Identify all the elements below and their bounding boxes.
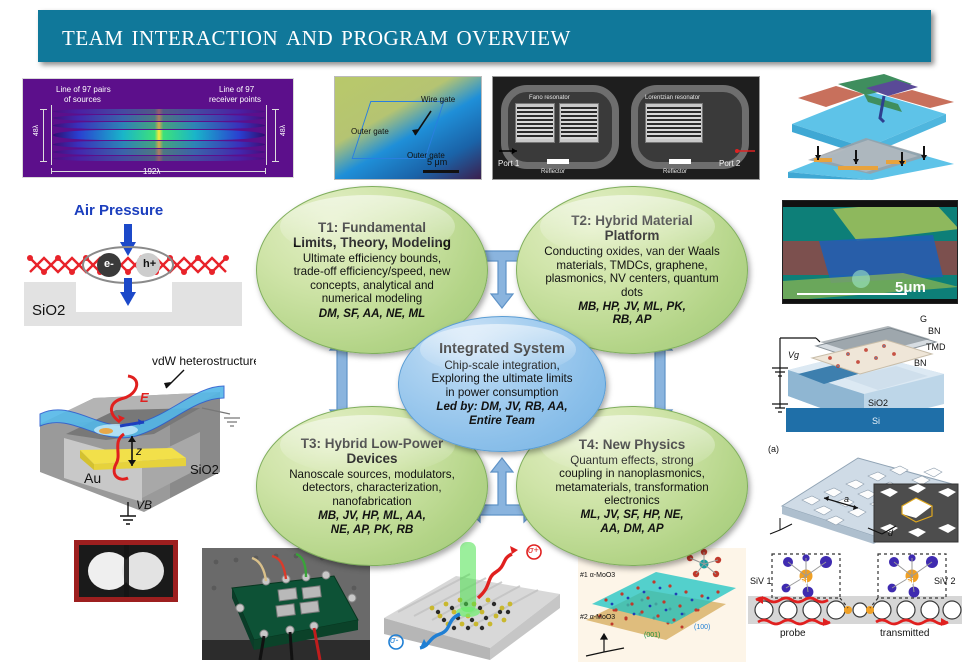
figure-metamaterial-array: (a) a d — [762, 436, 960, 546]
gates-scale-label: 5 μm — [427, 157, 447, 167]
figure-sem-resonators: Fano resonator Lorentzian resonator Refl… — [492, 76, 760, 180]
beam-receiver-label-line2: receiver points — [209, 95, 261, 104]
metamaterial-thickness-label: d — [888, 528, 893, 538]
figure-tmd-bn-device: G BN TMD BN SiO2 Si Vg — [768, 312, 960, 434]
tmd-oxide-label: SiO2 — [868, 398, 888, 408]
figure-vdw-heterostructure: vdW heterostructure E z Au — [24, 352, 256, 536]
t3-people: MB, JV, HP, ML, AA, NE, AP, PK, RB — [318, 509, 426, 536]
t2-title: T2: Hybrid Material Platform — [571, 213, 693, 243]
tmd-gate-label: G — [920, 314, 927, 324]
center-body: Chip-scale integration, Exploring the ul… — [431, 359, 572, 399]
false-color-scale-label: 5μm — [895, 279, 926, 296]
tmd-bn-bottom-label: BN — [914, 358, 927, 368]
figure-beam-focusing-simulation: Line of 97 pairs of sources Line of 97 r… — [22, 78, 294, 178]
metamaterial-drawing — [762, 436, 960, 546]
electron-label: e- — [104, 258, 114, 270]
figure-exploded-layer-device — [778, 74, 960, 182]
tmd-bn-top-label: BN — [928, 326, 941, 336]
t3-title: T3: Hybrid Low-Power Devices — [301, 436, 444, 466]
air-pressure-label: Air Pressure — [74, 202, 163, 219]
t4-body: Quantum effects, strong coupling in nano… — [555, 454, 708, 508]
wire-gate-label: Wire gate — [421, 95, 455, 104]
poster-canvas: Team Interaction and Program Overview Li… — [0, 0, 968, 663]
siv-transmitted-label: transmitted — [880, 628, 929, 639]
beam-height-right-label: 48λ — [280, 125, 287, 136]
beam-width-label: 192λ — [143, 167, 160, 176]
figure-pcb-board-photo — [202, 548, 370, 660]
t1-body: Ultimate efficiency bounds, trade-off ef… — [294, 252, 451, 306]
t2-people: MB, HP, JV, ML, PK, RB, AP — [578, 300, 686, 327]
integrated-system-bubble[interactable]: Integrated System Chip-scale integration… — [398, 316, 606, 452]
vdw-distance-label: z — [136, 444, 142, 458]
t3-body: Nanoscale sources, modulators, detectors… — [289, 468, 455, 508]
exploded-layers-drawing — [778, 74, 960, 182]
figure-false-color-micrograph: 5μm — [782, 200, 958, 304]
t1-title: T1: Fundamental Limits, Theory, Modeling — [293, 220, 451, 250]
vdw-structure-label: vdW heterostructure — [152, 354, 256, 368]
tmd-substrate-label: Si — [872, 416, 880, 426]
center-people: Led by: DM, JV, RB, AA, Entire Team — [436, 400, 567, 427]
vdw-metal-label: Au — [84, 470, 101, 486]
beam-height-left-label: 48λ — [33, 125, 40, 136]
siv-2-label: SiV 2 — [934, 576, 956, 586]
center-title: Integrated System — [439, 341, 565, 357]
moo3-layer2-label: #2 α-MoO3 — [580, 614, 615, 621]
two-lobe-drawing — [79, 545, 173, 597]
figure-optical-micrograph-gates: Wire gate Outer gate Outer gate 5 μm — [334, 76, 482, 180]
sem-port-arrows — [493, 77, 760, 180]
figure-two-lobe-micrograph — [74, 540, 178, 602]
moo3-plane-001-label: (001) — [644, 632, 660, 639]
figure-siv-waveguide: SiV 1 SiV 2 Si Si probe transmitted — [748, 548, 962, 660]
t1-people: DM, SF, AA, NE, ML — [319, 307, 426, 320]
hole-label: h+ — [143, 258, 156, 270]
sigma-minus-label: σ- — [390, 635, 398, 645]
outer-gate-label-1: Outer gate — [351, 127, 389, 136]
siv-probe-label: probe — [780, 628, 806, 639]
siv-drawing — [748, 548, 962, 660]
beam-source-label-line1: Line of 97 pairs — [56, 85, 111, 94]
sigma-plus-label: σ+ — [528, 545, 539, 555]
beam-receiver-label-line1: Line of 97 — [219, 85, 254, 94]
vdw-oxide-label: SiO2 — [190, 462, 219, 477]
t4-title: T4: New Physics — [579, 437, 686, 452]
moo3-plane-100-label: (100) — [694, 624, 710, 631]
membrane-oxide-label: SiO2 — [32, 302, 65, 319]
beam-field-map — [53, 107, 265, 163]
vdw-bias-label: VB — [136, 498, 152, 512]
false-color-drawing — [783, 201, 958, 304]
siv-1-label: SiV 1 — [750, 576, 772, 586]
t2-body: Conducting oxides, van der Waals materia… — [544, 245, 720, 299]
title-banner: Team Interaction and Program Overview — [38, 10, 931, 62]
pcb-drawing — [202, 548, 370, 660]
moo3-drawing — [578, 548, 746, 662]
metamaterial-lattice-label: a — [844, 494, 849, 504]
figure-alpha-moo3-bilayer: #1 α-MoO3 #2 α-MoO3 (001) (100) — [578, 548, 746, 662]
siv-atom-label-1: Si — [800, 577, 808, 586]
t4-people: ML, JV, SF, HP, NE, AA, DM, AP — [580, 508, 683, 535]
tmd-layer-label: TMD — [926, 342, 946, 352]
gates-scale-bar — [423, 170, 459, 173]
moo3-layer1-label: #1 α-MoO3 — [580, 572, 615, 579]
beam-source-label-line2: of sources — [64, 95, 101, 104]
metamaterial-panel-label: (a) — [768, 444, 779, 454]
figure-air-pressure-membrane: Air Pressure e- — [24, 198, 242, 326]
siv-atom-label-2: Si — [906, 577, 914, 586]
vdw-field-label: E — [140, 390, 149, 405]
tmd-gate-voltage-label: Vg — [788, 350, 799, 360]
page-title: Team Interaction and Program Overview — [38, 19, 571, 53]
